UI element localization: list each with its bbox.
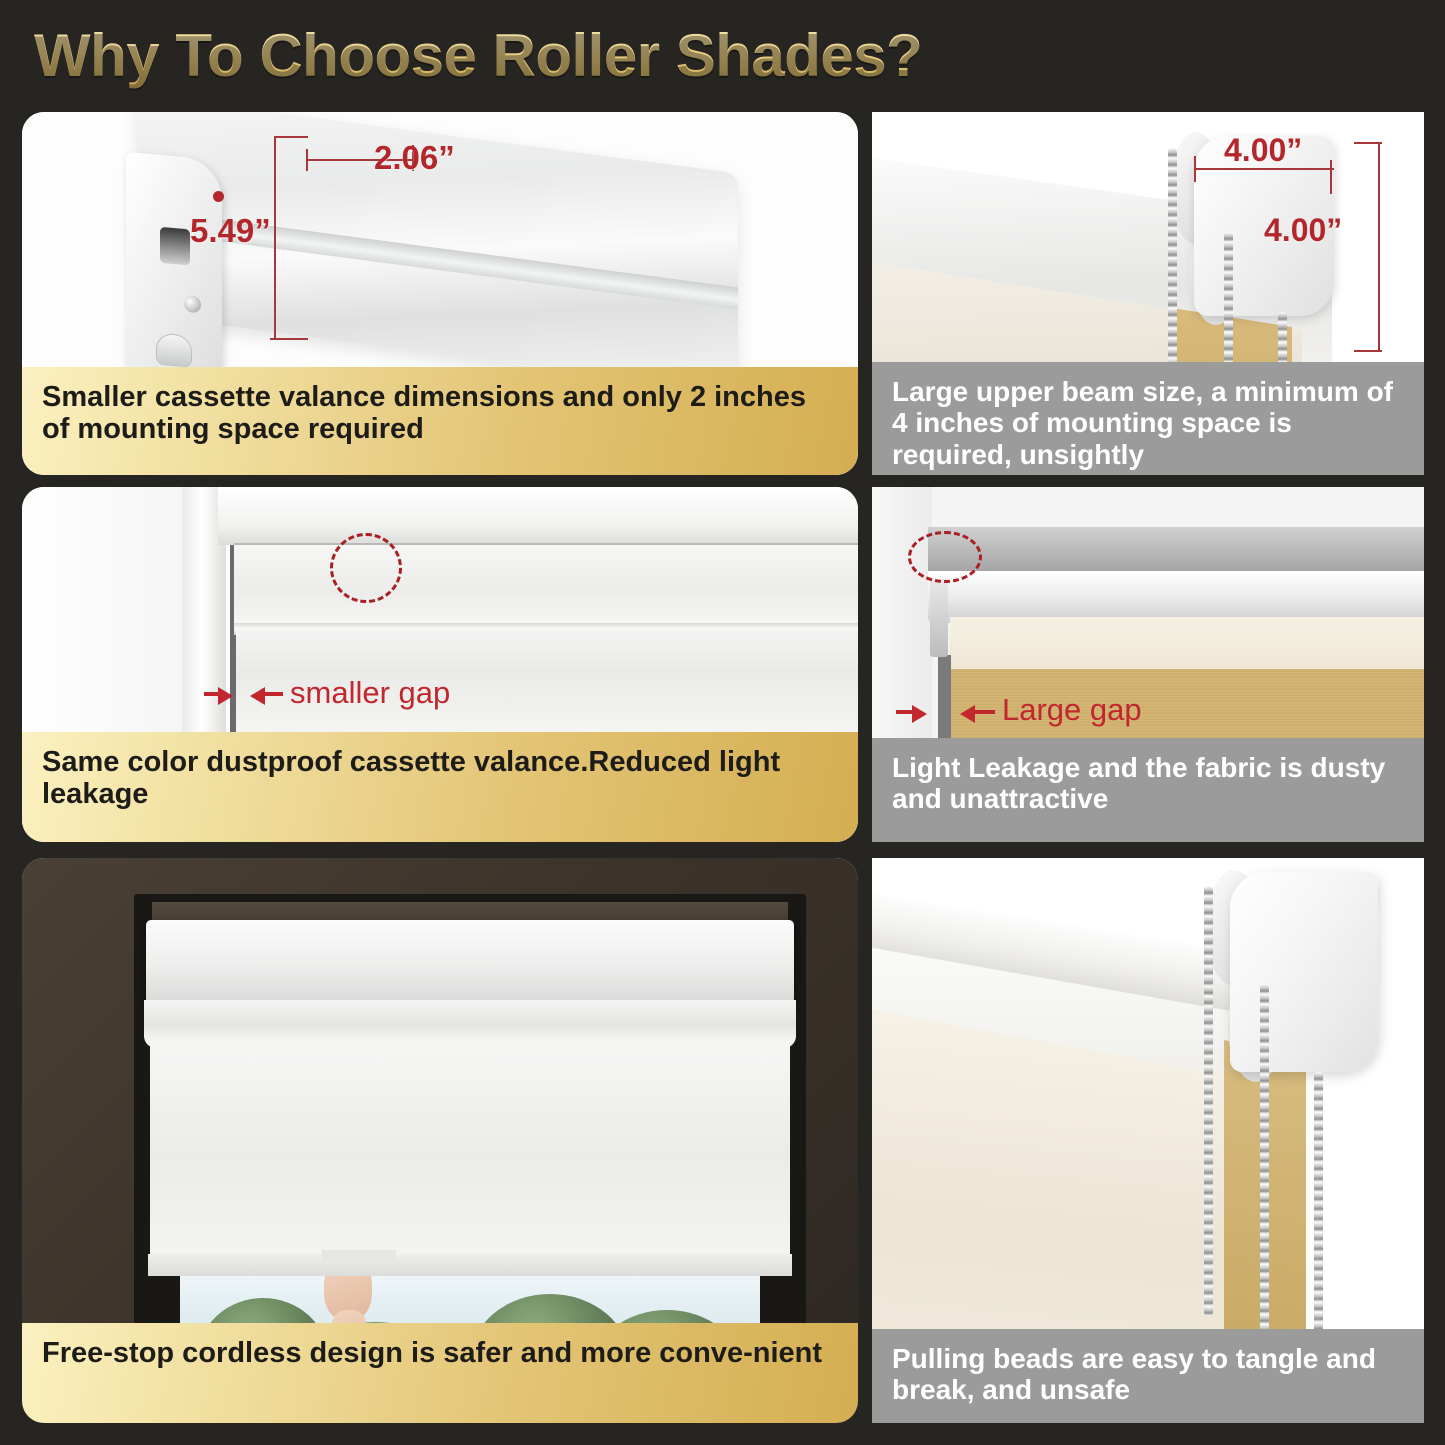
height-dimension-label: 5.49”: [190, 212, 271, 250]
panel-bottom-right: Pulling beads are easy to tangle and bre…: [872, 858, 1424, 1423]
mounting-bracket: [1230, 872, 1378, 1072]
shade-fabric-cream: [950, 617, 1424, 669]
page-title: Why To Choose Roller Shades?: [34, 21, 922, 90]
caption-bottom-right: Pulling beads are easy to tangle and bre…: [872, 1329, 1424, 1423]
width-dimension-label: 2.06”: [374, 139, 455, 177]
gap-arrow-left-icon: [960, 705, 975, 723]
panel-top-right: 4.00” 4.00” Large upper beam size, a min…: [872, 112, 1424, 475]
caption-top-left: Smaller cassette valance dimensions and …: [22, 367, 858, 475]
valance-slot: [160, 227, 190, 266]
panel-middle-left: smaller gap Same color dustproof cassett…: [22, 487, 858, 842]
bead-chain: [1314, 1072, 1323, 1334]
gap-arrow-left-icon: [250, 687, 265, 705]
gap-arrow-right-icon: [912, 705, 927, 723]
valance-end-cap: [126, 152, 222, 388]
width-dimension-tick-left: [1194, 156, 1196, 182]
caption-bottom-left: Free-stop cordless design is safer and m…: [22, 1323, 858, 1423]
gap-label: Large gap: [1002, 692, 1142, 728]
cassette-valance: [146, 920, 794, 1004]
gap-arrow-right-icon: [218, 687, 233, 705]
width-dimension-label: 4.00”: [1224, 132, 1302, 169]
mounting-clip: [930, 579, 948, 657]
gap-arrow-tail-right: [975, 710, 995, 714]
height-dimension-line: [274, 136, 276, 340]
gap-arrow-tail-right: [265, 692, 283, 696]
bead-chain: [1204, 886, 1213, 1316]
highlight-circle-icon: [330, 533, 402, 603]
valance-screw: [184, 295, 201, 313]
caption-middle-right: Light Leakage and the fabric is dusty an…: [872, 738, 1424, 842]
shade-fabric: [150, 1044, 790, 1264]
caption-middle-left: Same color dustproof cassette valance.Re…: [22, 732, 858, 842]
height-dimension-label: 4.00”: [1264, 212, 1342, 249]
window-head-jamb: [218, 487, 858, 545]
shade-brand-tab: [322, 1250, 396, 1261]
roller-tube: [928, 571, 1424, 623]
highlight-circle-icon: [908, 531, 982, 583]
bead-chain: [1260, 984, 1269, 1334]
width-dimension-tick-right: [1330, 160, 1332, 194]
cassette-valance: [234, 543, 858, 629]
height-dimension-line: [1378, 142, 1380, 352]
height-dimension-tick-top: [1354, 142, 1382, 144]
height-dimension-tick-bottom: [270, 338, 308, 340]
roller-tube: [144, 1000, 796, 1048]
panel-bottom-left: Free-stop cordless design is safer and m…: [22, 858, 858, 1423]
width-dimension-tick-left: [306, 149, 308, 171]
shade-hem-bar: [148, 1254, 792, 1276]
valance-knob: [156, 332, 192, 367]
panel-middle-right: Large gap Light Leakage and the fabric i…: [872, 487, 1424, 842]
caption-top-right: Large upper beam size, a minimum of 4 in…: [872, 362, 1424, 475]
infographic-root: Why To Choose Roller Shades? 5.49” 2.06”…: [0, 0, 1445, 1445]
height-dimension-tick-bottom: [1354, 350, 1382, 352]
gap-label: smaller gap: [290, 675, 450, 711]
panel-top-left: 5.49” 2.06” Smaller cassette valance dim…: [22, 112, 858, 475]
title-bar: Why To Choose Roller Shades?: [0, 0, 1445, 110]
height-dimension-tick-top: [274, 136, 308, 138]
width-dimension-origin-dot: [213, 191, 224, 202]
bead-chain: [1168, 148, 1177, 370]
